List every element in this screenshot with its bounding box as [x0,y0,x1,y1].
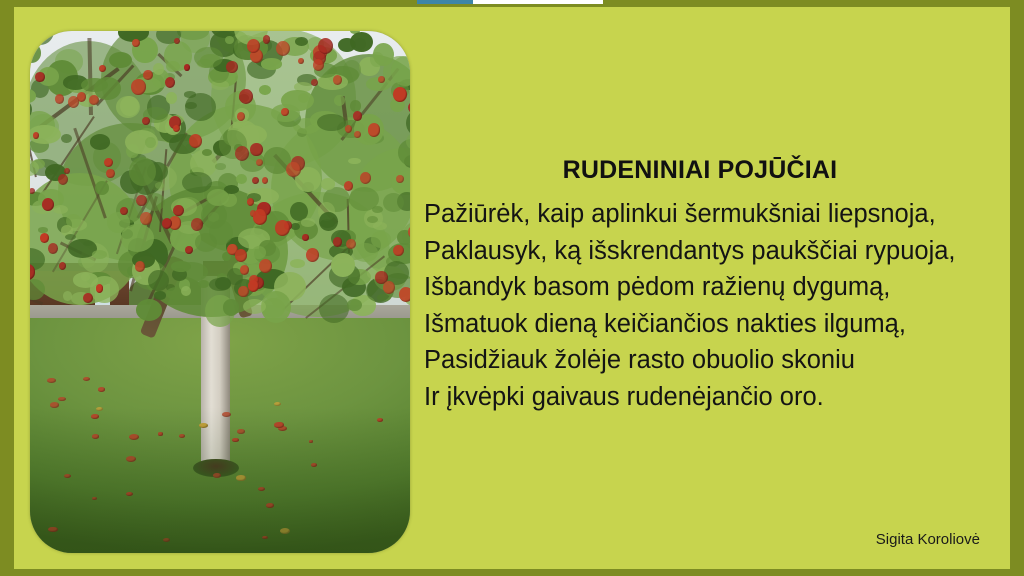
apple-on-tree [248,280,259,292]
toolbar-sliver-teal-segment [417,0,473,4]
leaf-cluster [107,212,130,233]
fallen-apple [274,402,281,406]
apple-on-tree [96,284,104,292]
leaf-cluster [225,36,234,44]
apple-on-tree [55,94,64,104]
leaf-cluster [259,85,271,95]
apple-on-tree [35,72,44,82]
apple-on-tree [253,209,267,224]
apple-on-tree [240,265,249,275]
leaf-cluster [261,58,283,69]
poem-line: Išmatuok dieną keičiančios nakties ilgum… [424,306,1010,343]
leaf-cluster [92,250,107,259]
apple-tree-photo [30,31,410,553]
apple-on-tree [140,212,151,224]
apple-on-tree [173,205,183,216]
leaf-cluster [65,234,76,240]
leaf-cluster [171,261,191,272]
apple-on-tree [360,172,371,184]
apple-on-tree [298,58,304,65]
leaf-cluster [373,43,394,66]
apple-on-tree [143,70,153,80]
leaf-cluster [223,299,240,316]
apple-on-tree [131,79,146,95]
fallen-apple [58,397,66,401]
poem-line: Pasidžiauk žolėje rasto obuolio skoniu [424,342,1010,379]
apple-on-tree [318,38,333,54]
fallen-apple [98,387,105,391]
leaf-cluster [185,93,216,121]
leaf-cluster [166,61,180,72]
leaf-cluster [153,63,165,75]
apple-on-tree [237,112,245,121]
apple-on-tree [286,162,300,177]
apple-on-tree [235,146,249,161]
leaf-cluster [331,253,355,278]
apple-on-tree [399,287,410,302]
leaf-cluster [73,272,99,288]
poem-line: Pažiūrėk, kaip aplinkui šermukšniai liep… [424,196,1010,233]
leaf-cluster [252,246,266,258]
leaf-cluster [354,38,366,50]
poem-title: RUDENINIAI POJŪČIAI [410,156,990,185]
leaf-cluster [348,158,360,165]
apple-on-tree [30,188,35,194]
apple-on-tree [353,111,362,120]
fallen-apple [83,377,90,381]
apple-on-tree [106,169,114,178]
slide-canvas: RUDENINIAI POJŪČIAI Pažiūrėk, kaip aplin… [14,7,1010,569]
leaf-cluster [373,222,386,230]
apple-on-tree [135,261,145,272]
apple-on-tree [302,234,308,241]
leaf-cluster [301,218,315,226]
leaf-cluster [38,227,47,232]
apple-on-tree [238,286,248,297]
fallen-apple [47,378,56,383]
apple-on-tree [275,220,290,236]
leaf-cluster [129,157,156,186]
photo-tree-canopy [30,31,410,323]
leaf-cluster [350,100,362,112]
leaf-cluster [61,134,72,143]
poem-line: Išbandyk basom pėdom ražienų dygumą, [424,269,1010,306]
leaf-cluster [236,174,247,184]
text-column: RUDENINIAI POJŪČIAI Pažiūrėk, kaip aplin… [410,7,1010,569]
apple-on-tree [104,158,113,167]
photo-lawn-shading [30,407,410,553]
apple-on-tree [396,175,404,183]
apple-on-tree [354,131,361,138]
apple-on-tree [345,125,352,133]
apple-on-tree [189,134,202,148]
leaf-cluster [215,163,226,170]
leaf-cluster [319,212,338,231]
apple-on-tree [184,64,190,70]
leaf-cluster [81,78,108,92]
apple-on-tree [235,249,247,262]
leaf-cluster [194,47,223,69]
apple-on-tree [58,174,68,185]
apple-on-tree [42,198,54,211]
apple-on-tree [259,259,272,273]
apple-on-tree [383,281,395,294]
cropped-toolbar-sliver [0,0,1024,7]
apple-on-tree [33,132,39,139]
apple-on-tree [247,39,260,53]
apple-on-tree [378,76,384,83]
leaf-cluster [95,181,109,195]
slide: RUDENINIAI POJŪČIAI Pažiūrėk, kaip aplin… [0,0,1024,576]
leaf-cluster [209,220,233,245]
apple-on-tree [313,59,324,71]
leaf-cluster [155,182,164,188]
leaf-cluster [181,286,191,296]
leaf-cluster [321,178,335,189]
leaf-cluster [109,52,132,68]
leaf-cluster [334,95,345,106]
apple-on-tree [226,61,237,73]
author-credit: Sigita Koroliovė [876,531,980,548]
apple-on-tree [368,123,380,136]
apple-on-tree [263,35,271,43]
toolbar-sliver-white-segment [473,0,603,4]
apple-on-tree [68,96,79,108]
apple-on-tree [256,159,263,166]
leaf-cluster [148,270,169,291]
poem-line: Ir įkvėpki gaivaus rudenėjančio oro. [424,379,1010,416]
poem-line: Paklausyk, ką išskrendantys paukščiai ry… [424,233,1010,270]
leaf-cluster [90,134,110,149]
apple-on-tree [40,233,49,243]
leaf-cluster [154,291,165,300]
leaf-cluster [30,279,45,300]
apple-on-tree [333,237,342,246]
apple-on-tree [252,177,259,184]
leaf-cluster [353,243,378,263]
apple-on-tree [48,243,58,254]
leaf-cluster [243,299,266,314]
leaf-cluster [347,299,362,311]
leaf-cluster [166,92,178,104]
apple-on-tree [281,108,288,116]
leaf-cluster [182,172,211,194]
leaf-cluster [198,280,209,288]
poem-body: Pažiūrėk, kaip aplinkui šermukšniai liep… [424,196,1010,415]
apple-on-tree [333,75,342,85]
leaf-cluster [392,31,410,39]
apple-on-tree [136,195,146,206]
leaf-cluster [30,43,41,62]
